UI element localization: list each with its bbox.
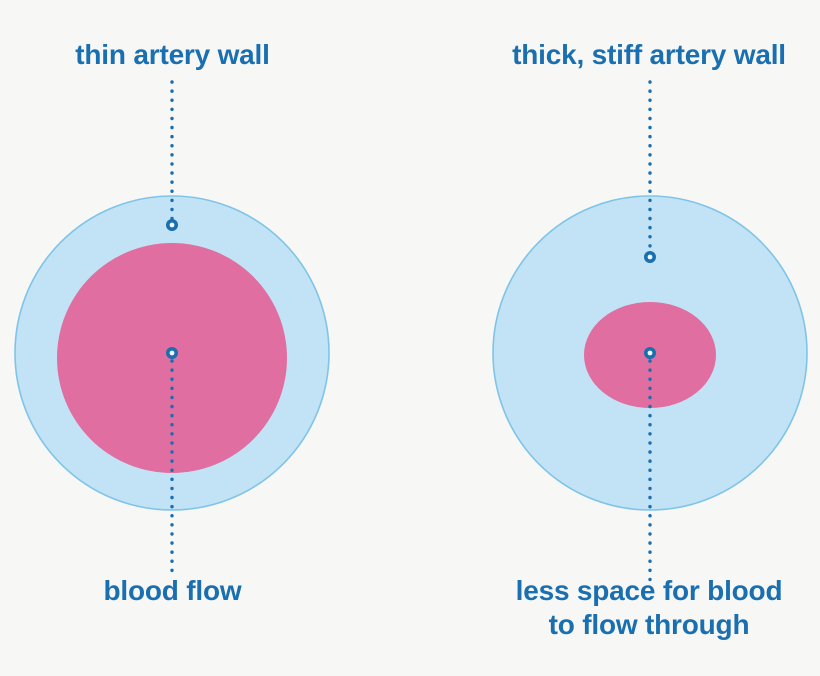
artery-comparison-diagram: thin artery wall thick, stiff artery wal… — [0, 0, 820, 676]
label-less-space-line-2: to flow through — [478, 608, 820, 642]
wall-marker-healthy — [166, 219, 178, 231]
blood-marker-diseased — [644, 347, 656, 359]
label-thin-artery-wall: thin artery wall — [0, 38, 345, 72]
label-less-space-for-blood: less space for blood to flow through — [478, 574, 820, 642]
panel-diseased-artery — [493, 82, 807, 582]
wall-marker-diseased — [644, 251, 656, 263]
blood-marker-healthy — [166, 347, 178, 359]
label-blood-flow: blood flow — [0, 574, 345, 608]
label-less-space-line-1: less space for blood — [478, 574, 820, 608]
panel-healthy-artery — [15, 82, 329, 572]
label-thick-stiff-artery-wall: thick, stiff artery wall — [478, 38, 820, 72]
